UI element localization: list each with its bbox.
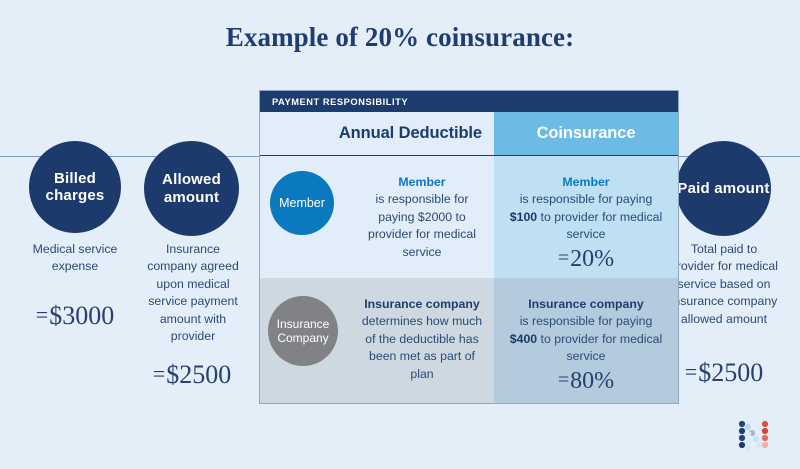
- insurance-coinsurance-amount: $400: [510, 332, 537, 346]
- logo-diagonal-stroke: [745, 424, 762, 451]
- member-coinsurance-percent: =20%: [508, 247, 664, 271]
- insurance-coinsurance-text: Insurance companyis responsible for payi…: [494, 296, 678, 393]
- member-circle-icon: Member: [270, 171, 334, 235]
- column-header-coinsurance: Coinsurance: [494, 112, 678, 155]
- insurance-coinsurance-percent: =80%: [506, 369, 666, 393]
- insurance-deductible-lead: Insurance company: [356, 296, 488, 313]
- logo-left-stroke: [739, 421, 745, 448]
- paid-amount-caption: Total paid to provider for medical servi…: [669, 241, 779, 328]
- insurance-deductible-cell: Insurance companydetermines how much of …: [350, 278, 494, 403]
- billed-charges-amount: =$3000: [17, 303, 133, 329]
- insurance-coinsurance-lead: Insurance company: [506, 296, 666, 313]
- equals-sign: =: [558, 369, 570, 391]
- billed-charges-circle: Billed charges: [29, 141, 121, 233]
- paid-amount-value: $2500: [698, 358, 763, 387]
- column-header-coinsurance-label: Coinsurance: [537, 124, 636, 143]
- paid-amount-amount: =$2500: [667, 360, 781, 386]
- member-coinsurance-lead: Member: [508, 174, 664, 191]
- member-coinsurance-amount: $100: [510, 210, 537, 224]
- insurance-deductible-body: determines how much of the deductible ha…: [362, 314, 482, 380]
- billed-charges-label: Billed charges: [29, 170, 121, 205]
- paid-amount-circle: Paid amount: [676, 141, 771, 236]
- member-deductible-lead: Member: [356, 174, 488, 191]
- allowed-amount-circle: Allowed amount: [144, 141, 239, 236]
- paid-amount-label: Paid amount: [677, 180, 769, 197]
- equals-sign: =: [153, 361, 166, 386]
- insurance-coinsurance-body-pre: is responsible for paying: [520, 314, 653, 328]
- equals-sign: =: [36, 302, 49, 327]
- insurance-coinsurance-cell: Insurance companyis responsible for payi…: [494, 278, 678, 403]
- column-header-annual-deductible-label: Annual Deductible: [339, 124, 482, 143]
- member-circle-label: Member: [279, 196, 325, 211]
- table-row: Insurance Company Insurance companydeter…: [260, 278, 678, 403]
- billed-charges-caption: Medical service expense: [17, 241, 133, 276]
- insurance-deductible-text: Insurance companydetermines how much of …: [350, 296, 494, 383]
- infographic-canvas: Example of 20% coinsurance: Billed charg…: [0, 0, 800, 469]
- logo-right-stroke: [762, 421, 768, 448]
- allowed-amount-caption: Insurance company agreed upon medical se…: [140, 241, 246, 346]
- allowed-amount-label: Allowed amount: [144, 171, 239, 206]
- payment-responsibility-table: PAYMENT RESPONSIBILITY Annual Deductible…: [259, 90, 679, 404]
- table-row: Member Memberis responsible for paying $…: [260, 156, 678, 278]
- insurance-coinsurance-percent-value: 80%: [570, 368, 614, 394]
- insurance-company-circle-icon: Insurance Company: [268, 296, 338, 366]
- row-actor-cell: Member: [260, 156, 350, 278]
- n-monogram-logo: [737, 420, 771, 452]
- insurance-coinsurance-body-post: to provider for medical service: [537, 332, 662, 363]
- member-deductible-cell: Memberis responsible for paying $2000 to…: [350, 156, 494, 278]
- insurance-company-circle-label: Insurance Company: [268, 317, 338, 345]
- table-header-row: Annual Deductible Coinsurance: [260, 112, 678, 156]
- page-title: Example of 20% coinsurance:: [0, 22, 800, 53]
- column-header-annual-deductible: Annual Deductible: [260, 112, 494, 155]
- table-banner: PAYMENT RESPONSIBILITY: [260, 91, 678, 112]
- equals-sign: =: [685, 359, 698, 384]
- member-coinsurance-percent-value: 20%: [570, 246, 614, 272]
- member-deductible-body: is responsible for paying $2000 to provi…: [368, 192, 476, 258]
- member-coinsurance-cell: Memberis responsible for paying $100 to …: [494, 156, 678, 278]
- equals-sign: =: [558, 247, 570, 269]
- member-coinsurance-body-pre: is responsible for paying: [520, 192, 653, 206]
- table-banner-label: PAYMENT RESPONSIBILITY: [272, 97, 408, 107]
- member-coinsurance-body-post: to provider for medical service: [537, 210, 662, 241]
- allowed-amount-value: $2500: [166, 360, 231, 389]
- member-coinsurance-text: Memberis responsible for paying $100 to …: [494, 174, 678, 271]
- row-actor-cell: Insurance Company: [260, 278, 350, 403]
- allowed-amount-amount: =$2500: [136, 362, 248, 388]
- billed-charges-value: $3000: [49, 301, 114, 330]
- member-deductible-text: Memberis responsible for paying $2000 to…: [350, 174, 494, 261]
